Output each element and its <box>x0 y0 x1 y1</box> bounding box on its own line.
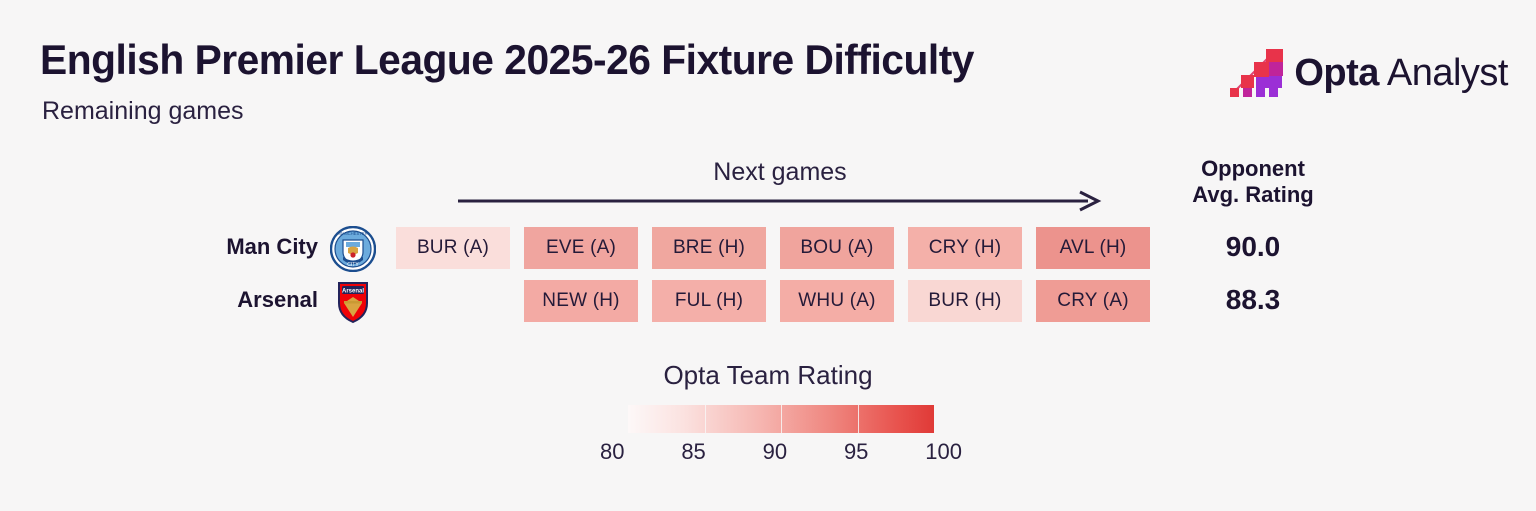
legend-title: Opta Team Rating <box>0 360 1536 391</box>
fixture-cell[interactable]: CRY (A) <box>1036 280 1150 322</box>
man-city-crest: CITY MANCHESTER <box>330 226 376 272</box>
opponent-rating-line2: Avg. Rating <box>1155 182 1351 208</box>
table-row: Arsenal Arsenal NEW (H) FUL (H) WHU (A) … <box>0 277 1536 330</box>
avg-rating-value: 90.0 <box>1155 231 1351 263</box>
fixture-cell-empty <box>396 280 510 322</box>
page-subtitle: Remaining games <box>42 97 244 126</box>
fixture-cell[interactable]: EVE (A) <box>524 227 638 269</box>
legend-gradient-bar <box>628 405 934 433</box>
page-title: English Premier League 2025-26 Fixture D… <box>40 36 974 84</box>
table-row: Man City CITY MANCHESTER BUR (A) EVE (A)… <box>0 224 1536 277</box>
team-name: Arsenal <box>150 287 318 313</box>
fixture-rows: Man City CITY MANCHESTER BUR (A) EVE (A)… <box>0 224 1536 330</box>
svg-text:CITY: CITY <box>347 262 359 268</box>
legend-tick-mark <box>781 405 782 433</box>
fixture-cell[interactable]: BOU (A) <box>780 227 894 269</box>
legend-tick-mark <box>858 405 859 433</box>
fixture-cell[interactable]: NEW (H) <box>524 280 638 322</box>
legend-tick-label: 95 <box>844 439 868 465</box>
brand-opta: Opta <box>1294 52 1379 94</box>
fixture-cell[interactable]: BUR (H) <box>908 280 1022 322</box>
legend-tick-label: 80 <box>600 439 624 465</box>
brand-wordmark: Opta Analyst <box>1294 52 1508 95</box>
legend-tick-mark <box>705 405 706 433</box>
fixture-cell[interactable]: CRY (H) <box>908 227 1022 269</box>
opponent-rating-line1: Opponent <box>1155 156 1351 182</box>
next-games-arrow-icon <box>458 190 1104 212</box>
fixture-cell[interactable]: AVL (H) <box>1036 227 1150 269</box>
svg-text:MANCHESTER: MANCHESTER <box>338 231 367 236</box>
fixture-cell[interactable]: FUL (H) <box>652 280 766 322</box>
next-games-label: Next games <box>460 158 1100 187</box>
fixture-cell[interactable]: BRE (H) <box>652 227 766 269</box>
legend-tick-labels: 80 85 90 95 100 <box>600 439 962 465</box>
chart-header: English Premier League 2025-26 Fixture D… <box>0 0 1536 140</box>
opponent-avg-rating-header: Opponent Avg. Rating <box>1155 156 1351 209</box>
arsenal-crest: Arsenal <box>330 279 376 325</box>
legend-tick-label: 100 <box>925 439 962 465</box>
svg-text:Arsenal: Arsenal <box>342 288 364 294</box>
fixture-cells: BUR (A) EVE (A) BRE (H) BOU (A) CRY (H) … <box>396 227 1150 269</box>
team-name: Man City <box>150 234 318 260</box>
fixture-cell[interactable]: WHU (A) <box>780 280 894 322</box>
brand-analyst: Analyst <box>1387 52 1508 94</box>
fixture-cell[interactable]: BUR (A) <box>396 227 510 269</box>
color-legend: Opta Team Rating 80 85 90 95 100 <box>0 360 1536 391</box>
legend-tick-label: 90 <box>763 439 787 465</box>
opta-staircase-icon <box>1228 48 1284 98</box>
legend-tick-label: 85 <box>681 439 705 465</box>
avg-rating-value: 88.3 <box>1155 284 1351 316</box>
fixture-cells: NEW (H) FUL (H) WHU (A) BUR (H) CRY (A) <box>396 280 1150 322</box>
opta-analyst-logo: Opta Analyst <box>1228 48 1508 98</box>
